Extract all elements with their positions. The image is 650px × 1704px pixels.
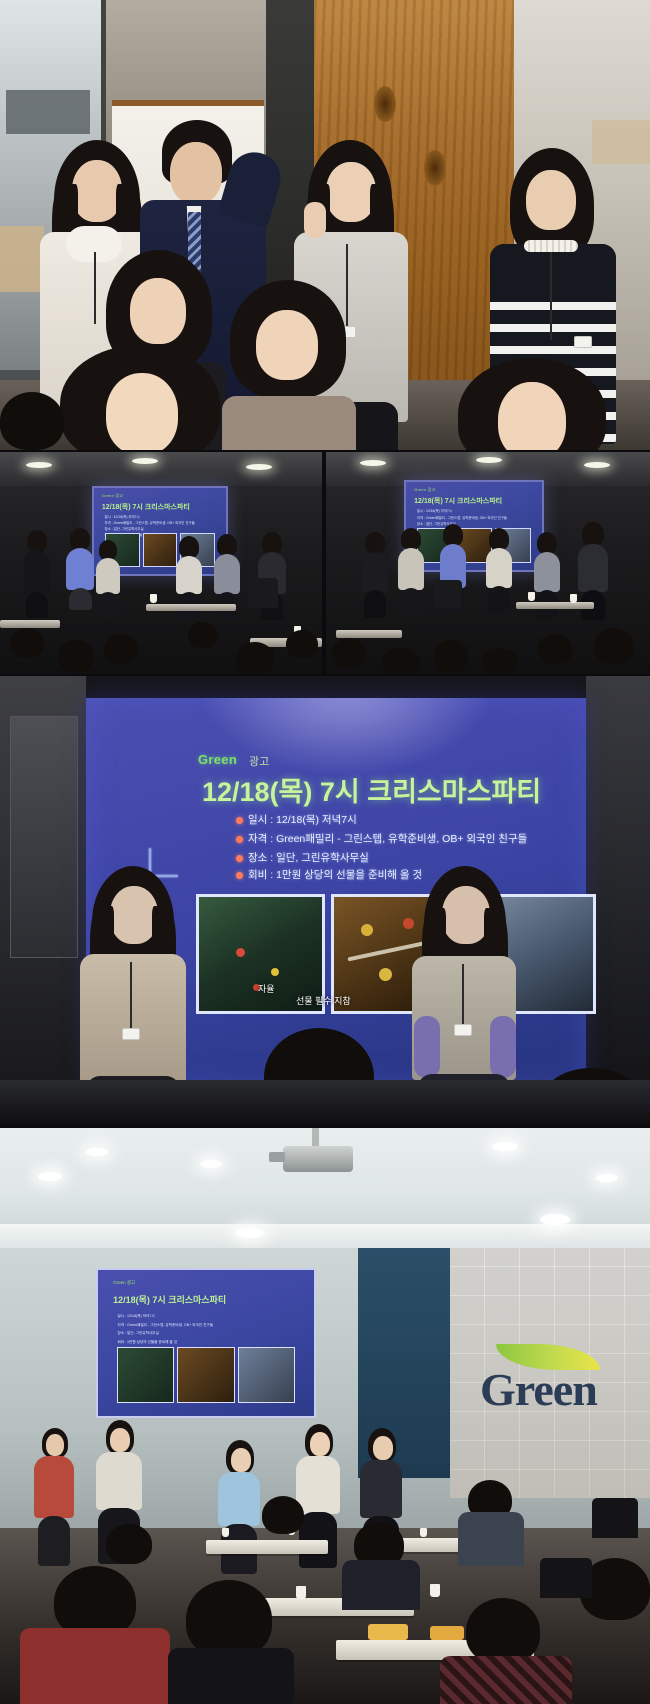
photo-collage: Green 광고 12/18(목) 7시 크리스마스파티 일시 : 12/18(… [0,0,650,1704]
slide-bullet-0: 일시 : 12/18(목) 저녁7시 [105,514,140,519]
bullet-dot-icon [236,872,243,879]
downlight-icon [38,1172,62,1181]
slide-bullet-2: 장소 : 일단, 그린유학사무실 [117,1331,158,1336]
slide-brand: Green [198,752,237,767]
green-logo-text: Green [480,1363,597,1416]
slide-photo-0 [117,1347,174,1402]
slide-bullet-1: 자격 : Green패밀리 - 그린스텝, 유학준비생, OB+ 외국인 친구들 [105,520,195,525]
panel-slide-closeup: Green 광고 12/18(목) 7시 크리스마스파티 일시 : 12/18(… [0,676,650,1126]
panel-room-right: Green 광고 12/18(목) 7시 크리스마스파티 일시 : 12/18(… [326,452,650,674]
downlight-icon [492,1142,518,1151]
projection-screen-right: Green 광고 12/18(목) 7시 크리스마스파티 일시 : 12/18(… [404,480,544,572]
snack-item [368,1624,408,1640]
downlight-icon [596,1174,618,1182]
downlight-icon [540,1214,570,1225]
slide-bullet-1: 자격 : Green패밀리 - 그린스텝, 유학준비생, OB+ 외국인 친구들 [117,1323,213,1328]
panel-room-wide: Green Green 광고 12/18(목) 7시 크리스마스파티 일시 : … [0,1128,650,1704]
slide-brand-suffix: 광고 [127,1280,135,1285]
slide-bullet-3: 회비 : 1만원 상당의 선물을 준비해 올 것 [117,1340,177,1345]
slide-bullet-item: 장소 : 일단, 그린유학사무실 [236,852,566,864]
left-wall [0,676,86,1126]
presenter-right [408,866,520,1116]
slide-brand: Green [414,487,426,492]
chair [592,1498,638,1538]
slide-brand-suffix: 광고 [115,493,123,498]
presenter-1 [34,1428,74,1568]
slide-bullet-3: 회비 : 1만원 상당의 선물을 준비해 올 것 [248,869,422,881]
peace-hand [304,202,326,238]
slide-photo-2 [238,1347,295,1402]
table-row [206,1540,328,1554]
slide-photo-1 [143,533,178,567]
downlight-icon [86,1148,108,1156]
bullet-dot-icon [236,817,243,824]
slide-photo-1 [177,1347,234,1402]
downlight-icon [236,1228,264,1238]
audience-head [262,1496,304,1534]
slide-bullet-0: 일시 : 12/18(목) 저녁7시 [417,508,452,513]
slide-brand: Green [113,1280,126,1285]
projection-screen-wide: Green 광고 12/18(목) 7시 크리스마스파티 일시 : 12/18(… [96,1268,316,1418]
presenter-left [78,866,188,1116]
person-seated-4 [452,358,612,450]
slide-bullet-item: 자격 : Green패밀리 - 그린스텝, 유학준비생, OB+ 외국인 친구들 [236,833,566,845]
slide-bullet-2: 장소 : 일단, 그린유학사무실 [248,852,369,864]
slide-bullet-0: 일시 : 12/18(목) 저녁7시 [248,814,357,826]
audience-head [466,1598,540,1664]
slide-bullet-0: 일시 : 12/18(목) 저녁7시 [117,1314,154,1319]
ceiling-projector [283,1146,353,1172]
panel-room-left: Green 광고 12/18(목) 7시 크리스마스파티 일시 : 12/18(… [0,452,322,674]
pearl-necklace [524,240,578,252]
slide-title-small: 12/18(목) 7시 크리스마스파티 [414,496,502,506]
slide-photo-caption-0: 자율 [258,982,275,995]
slide-title-small: 12/18(목) 7시 크리스마스파티 [113,1293,226,1306]
bullet-dot-icon [236,855,243,862]
audience-body [440,1656,572,1704]
person-seated-2 [218,280,358,450]
slide-bullet-1: 자격 : Green패밀리 - 그린스텝, 유학준비생, OB+ 외국인 친구들 [417,515,507,520]
person-seated-3 [44,345,234,450]
slide-title-small: 12/18(목) 7시 크리스마스파티 [102,502,190,512]
audience-body [168,1648,294,1704]
audience-head [106,1524,152,1564]
slide-bullet-1: 자격 : Green패밀리 - 그린스텝, 유학준비생, OB+ 외국인 친구들 [248,833,527,845]
audience-head [186,1580,272,1658]
slide-bullet-item: 일시 : 12/18(목) 저녁7시 [236,814,566,826]
slide-brand-suffix: 광고 [428,487,436,492]
chair [540,1558,592,1598]
bullet-dot-icon [236,836,243,843]
projector-mount [312,1128,319,1148]
presenter-3 [218,1440,260,1576]
slide-brand: Green [102,493,114,498]
slide-title: 12/18(목) 7시 크리스마스파티 [202,770,541,809]
slide-bullet-2: 장소 : 일단, 그린유학사무실 [105,526,144,531]
slide-photo-caption-1: 선물 필수 지참 [296,994,351,1007]
panel-group-photo [0,0,650,450]
audience-body [20,1628,170,1704]
slide-brand-suffix: 광고 [249,753,269,769]
downlight-icon [200,1160,222,1168]
slide-photo-strip [196,894,596,1014]
snack-item [430,1626,464,1640]
